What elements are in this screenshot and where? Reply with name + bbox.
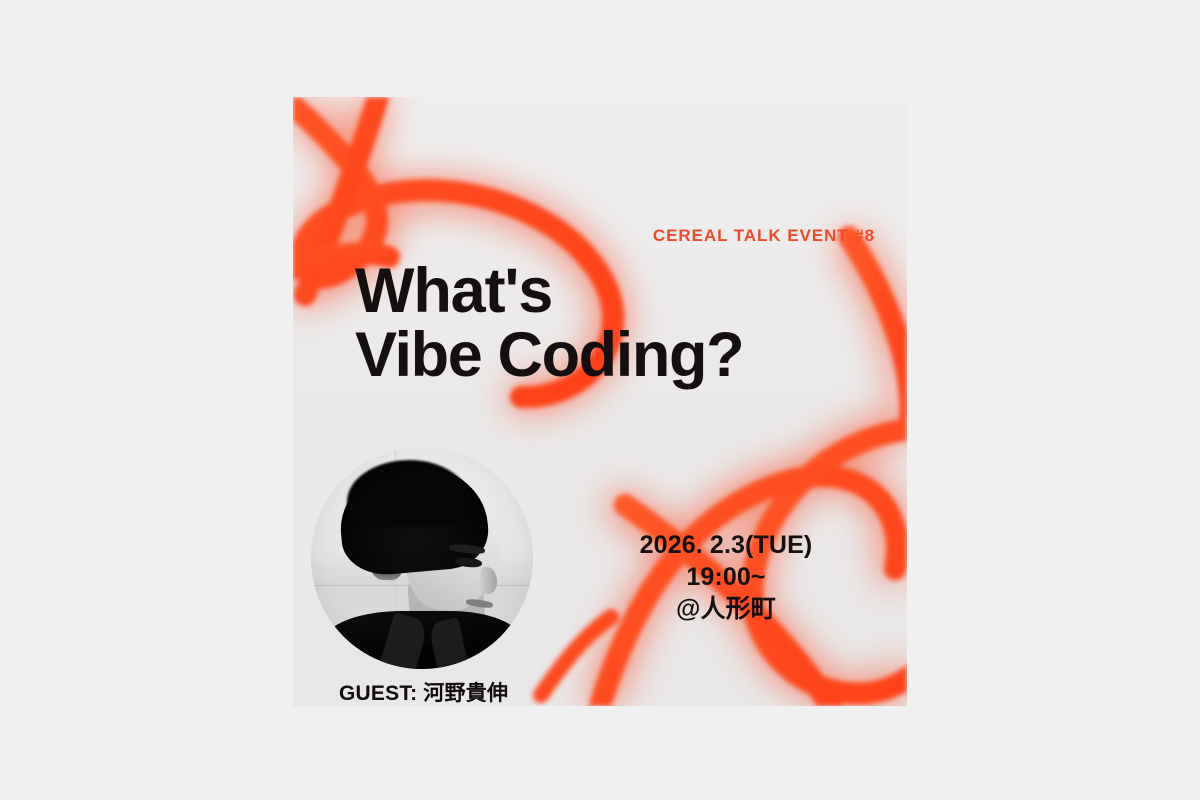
event-schedule: 2026. 2.3(TUE) 19:00~ @人形町: [611, 529, 841, 625]
headline-line-1: What's: [355, 259, 743, 323]
event-date: 2026. 2.3(TUE): [611, 529, 841, 561]
poster-stage: CEREAL TALK EVENT #8 What's Vibe Coding?: [0, 0, 1200, 800]
event-time: 19:00~: [611, 561, 841, 593]
event-kicker: CEREAL TALK EVENT #8: [585, 227, 875, 244]
page-title: What's Vibe Coding?: [355, 259, 743, 388]
guest-name-label: GUEST: 河野貴伸: [339, 677, 508, 706]
event-venue: @人形町: [611, 593, 841, 625]
guest-portrait: [311, 447, 533, 669]
headline-line-2: Vibe Coding?: [355, 323, 743, 387]
portrait-vignette: [311, 447, 533, 669]
event-poster-card[interactable]: CEREAL TALK EVENT #8 What's Vibe Coding?: [293, 97, 907, 706]
